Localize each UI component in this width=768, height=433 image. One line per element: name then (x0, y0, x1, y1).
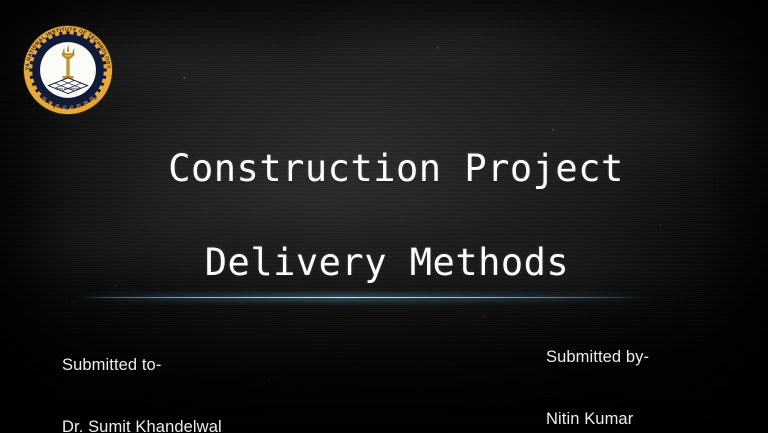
submitted-to-label: Submitted to- (62, 355, 238, 376)
submitted-to-block: Submitted to- Dr. Sumit Khandelwal Assit… (62, 313, 238, 433)
submitted-by-block: Submitted by- Nitin Kumar 2013UCE1333 Ba… (546, 305, 655, 433)
accent-divider-line (82, 296, 648, 299)
mnit-jaipur-logo-icon: MALAVIYA NATIONAL INSTITUTE OF TECHNOLOG… (19, 21, 117, 119)
submitted-by-label: Submitted by- (546, 347, 655, 368)
submitted-by-name: Nitin Kumar (546, 409, 655, 430)
slide-title-line-1: Construction Project (0, 146, 768, 192)
logo-motto: तमसो मा ज्योतिर्गमय (56, 87, 80, 91)
divider-core (82, 297, 648, 298)
slide-title-line-2: Delivery Methods (0, 240, 768, 286)
presentation-slide: MALAVIYA NATIONAL INSTITUTE OF TECHNOLOG… (0, 0, 768, 433)
submitted-to-name: Dr. Sumit Khandelwal (62, 417, 238, 433)
